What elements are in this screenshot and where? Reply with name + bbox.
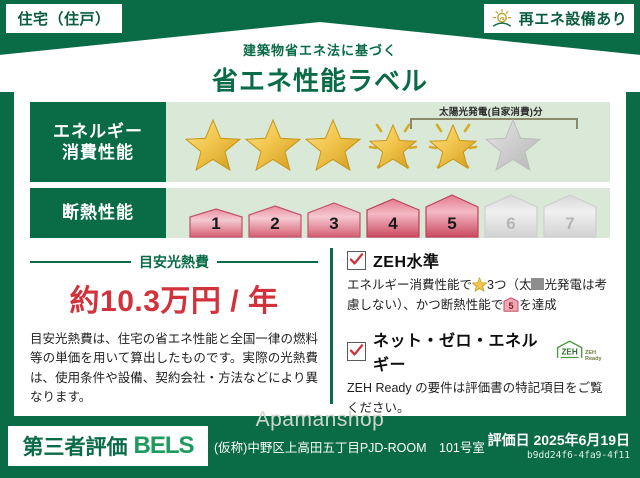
net-zero-row: ネット・ゼロ・エネルギー ZEH ZEH Ready bbox=[347, 327, 610, 375]
insulation-level-value: 5 bbox=[424, 214, 480, 234]
footer-bar: 第三者評価 BELS (仮称)中野区上高田五丁目PJD-ROOM 101号室 評… bbox=[0, 420, 640, 478]
redacted-character bbox=[531, 278, 544, 290]
energy-performance-label: エネルギー 消費性能 bbox=[30, 102, 166, 182]
zeh-column: ZEH水準 エネルギー消費性能で 3つ（太光発電は考慮しない）、かつ断熱性能で … bbox=[333, 248, 610, 404]
net-zero-block: ネット・ゼロ・エネルギー ZEH ZEH Ready bbox=[347, 327, 610, 418]
bels-en-label: BELS bbox=[133, 432, 193, 460]
bels-jp-label: 第三者評価 bbox=[22, 431, 127, 461]
star-filled-3 bbox=[304, 117, 362, 173]
renewable-equipment-label: 再エネ設備あり bbox=[519, 8, 628, 29]
insulation-house-1: 1 bbox=[188, 208, 244, 238]
energy-label-line2: 消費性能 bbox=[62, 142, 134, 163]
dwelling-type-tag: 住宅（住戸） bbox=[6, 4, 122, 33]
insulation-level-scale: 1 2 3 bbox=[166, 188, 598, 238]
evaluation-date: 評価日 2025年6月19日 bbox=[488, 430, 630, 450]
energy-performance-label: 住宅（住戸） 再エネ設備あり 建築物省エネ法に基づく 省エネ性能ラベル bbox=[0, 0, 640, 478]
zeh-ready-label: ZEH Ready bbox=[585, 351, 610, 363]
star-filled-solar-5 bbox=[424, 117, 482, 173]
zeh-standard-description: エネルギー消費性能で 3つ（太光発電は考慮しない）、かつ断熱性能で 5を達成 bbox=[347, 275, 610, 315]
zeh-standard-row: ZEH水準 bbox=[347, 248, 610, 272]
details-columns: 目安光熱費 約10.3万円 / 年 目安光熱費は、住宅の省エネ性能と全国一律の燃… bbox=[30, 248, 610, 404]
sun-icon bbox=[491, 8, 513, 30]
star-rating bbox=[166, 117, 542, 173]
svg-text:ZEH: ZEH bbox=[561, 347, 577, 356]
star-filled-solar-4 bbox=[364, 117, 422, 173]
rule-right bbox=[217, 261, 318, 263]
main-card: エネルギー 消費性能 太陽光発電(自家消費)分 bbox=[14, 92, 626, 416]
rule-left bbox=[30, 261, 131, 263]
star-filled-2 bbox=[244, 117, 302, 173]
label-id: b9dd24f6-4fa9-4f11 bbox=[527, 450, 630, 461]
insulation-house-4: 4 bbox=[365, 198, 421, 238]
insulation-house-3: 3 bbox=[306, 202, 362, 238]
insulation-level-value: 7 bbox=[542, 214, 598, 234]
insulation-level-value: 4 bbox=[365, 214, 421, 234]
zeh-standard-title: ZEH水準 bbox=[373, 248, 440, 272]
insulation-level-value: 2 bbox=[247, 214, 303, 234]
insulation-level-value: 1 bbox=[188, 214, 244, 234]
star-filled-1 bbox=[184, 117, 242, 173]
bels-logo: 第三者評価 BELS bbox=[8, 426, 208, 466]
insulation-house-6: 6 bbox=[483, 194, 539, 238]
energy-performance-row: エネルギー 消費性能 太陽光発電(自家消費)分 bbox=[30, 102, 610, 182]
insulation-level-value: 6 bbox=[483, 214, 539, 234]
utility-cost-heading-text: 目安光熱費 bbox=[139, 252, 209, 272]
renewable-equipment-tag: 再エネ設備あり bbox=[484, 4, 634, 33]
dwelling-type-label: 住宅（住戸） bbox=[17, 8, 110, 29]
energy-rating-panel: 太陽光発電(自家消費)分 bbox=[166, 102, 610, 182]
zeh-standard-text-d: を達成 bbox=[519, 298, 557, 312]
insulation-house-5: 5 bbox=[424, 194, 480, 238]
utility-cost-value: 約10.3万円 / 年 bbox=[30, 276, 318, 320]
utility-cost-column: 目安光熱費 約10.3万円 / 年 目安光熱費は、住宅の省エネ性能と全国一律の燃… bbox=[30, 248, 330, 404]
insulation-house-7: 7 bbox=[542, 194, 598, 238]
insulation-level-value: 3 bbox=[306, 214, 362, 234]
inline-star-icon bbox=[472, 277, 487, 292]
star-empty-6 bbox=[484, 117, 542, 173]
svg-text:5: 5 bbox=[509, 301, 514, 311]
checkmark-icon bbox=[347, 342, 366, 361]
solar-generation-note: 太陽光発電(自家消費)分 bbox=[398, 104, 584, 118]
zeh-badge-icon: ZEH ZEH Ready bbox=[555, 339, 610, 363]
evaluation-date-value: 2025年6月19日 bbox=[533, 432, 630, 448]
utility-cost-heading: 目安光熱費 bbox=[30, 252, 318, 272]
utility-cost-note: 目安光熱費は、住宅の省エネ性能と全国一律の燃料等の単価を用いて算出したものです。… bbox=[30, 330, 318, 408]
insulation-performance-row: 断熱性能 1 bbox=[30, 188, 610, 238]
insulation-house-2: 2 bbox=[247, 205, 303, 238]
checkmark-icon bbox=[347, 251, 366, 270]
zeh-standard-text-b: 3つ（太 bbox=[487, 278, 531, 292]
insulation-label-text: 断熱性能 bbox=[62, 202, 134, 223]
net-zero-title: ネット・ゼロ・エネルギー bbox=[373, 327, 544, 375]
energy-label-line1: エネルギー bbox=[53, 121, 143, 142]
insulation-rating-panel: 1 2 3 bbox=[166, 188, 610, 238]
zeh-house-logo: ZEH bbox=[555, 339, 584, 363]
zeh-standard-text-a: エネルギー消費性能で bbox=[347, 278, 472, 292]
inline-house-icon: 5 bbox=[503, 297, 519, 312]
property-address: (仮称)中野区上高田五丁目PJD-ROOM 101号室 bbox=[214, 437, 485, 456]
evaluation-date-label: 評価日 bbox=[488, 432, 530, 448]
insulation-performance-label: 断熱性能 bbox=[30, 188, 166, 238]
